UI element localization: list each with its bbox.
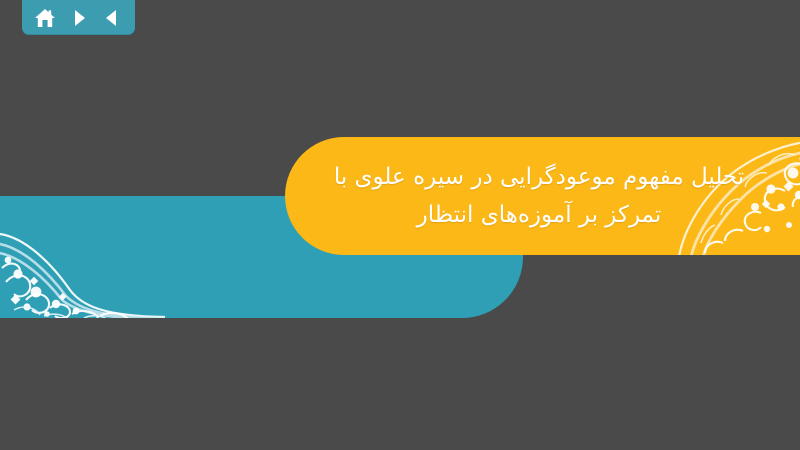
previous-slide-button[interactable]: [98, 5, 126, 31]
title-line-1: تحلیل مفهوم موعودگرایی در سیره علوی با: [334, 158, 744, 196]
next-slide-button[interactable]: [65, 5, 93, 31]
triangle-left-icon: [102, 8, 122, 28]
title-panel: تحلیل مفهوم موعودگرایی در سیره علوی با ت…: [285, 137, 800, 255]
home-icon: [34, 8, 56, 28]
arabesque-corner-ornament: [0, 208, 165, 318]
home-button[interactable]: [31, 5, 59, 31]
slide-title: تحلیل مفهوم موعودگرایی در سیره علوی با ت…: [285, 137, 800, 255]
presentation-slide: تحلیل مفهوم موعودگرایی در سیره علوی با ت…: [0, 0, 800, 450]
title-line-2: تمرکز بر آموزه‌های انتظار: [417, 196, 662, 234]
navigation-toolbar: [22, 0, 135, 35]
triangle-right-icon: [69, 8, 89, 28]
